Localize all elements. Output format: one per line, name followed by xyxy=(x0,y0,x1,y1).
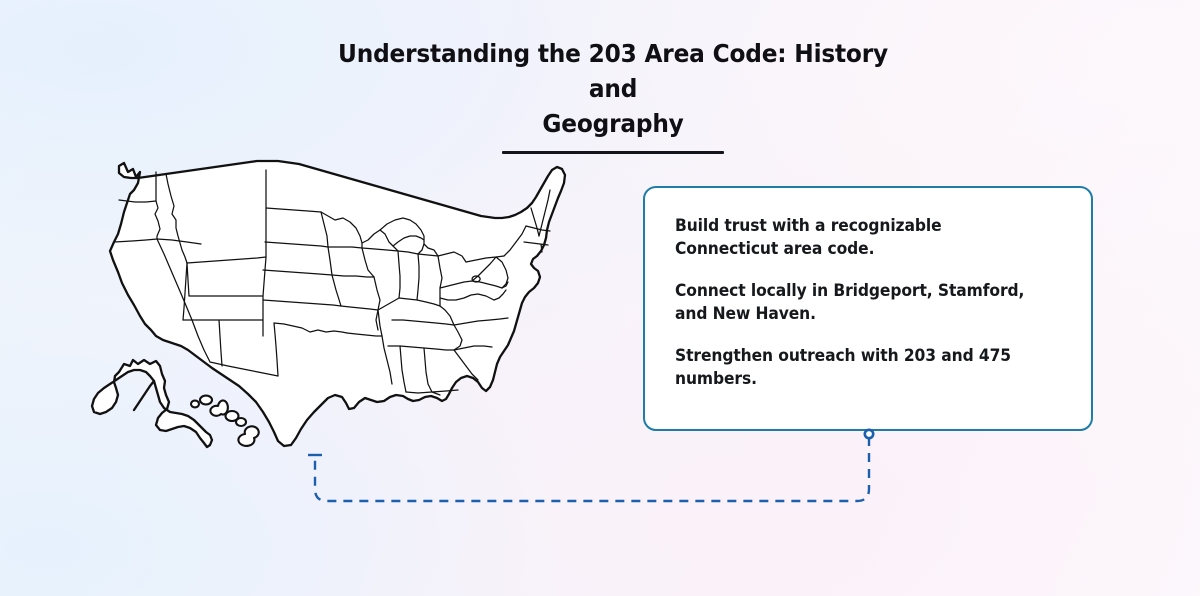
callout-line-1: Build trust with a recognizable Connecti… xyxy=(675,214,1038,260)
leader-anchor-dot xyxy=(865,430,873,438)
infographic-canvas: Understanding the 203 Area Code: History… xyxy=(0,0,1200,596)
united-states-map xyxy=(88,150,588,462)
page-title-line-1: Understanding the 203 Area Code: History… xyxy=(338,39,888,103)
callout-line-2: Connect locally in Bridgeport, Stamford,… xyxy=(675,279,1038,325)
callout-card: Build trust with a recognizable Connecti… xyxy=(643,186,1093,431)
title-block: Understanding the 203 Area Code: History… xyxy=(300,36,926,154)
callout-line-3: Strengthen outreach with 203 and 475 num… xyxy=(675,344,1038,390)
page-title-line-2: Geography xyxy=(542,109,683,138)
contiguous-outline xyxy=(110,161,565,446)
page-title: Understanding the 203 Area Code: History… xyxy=(322,36,904,141)
